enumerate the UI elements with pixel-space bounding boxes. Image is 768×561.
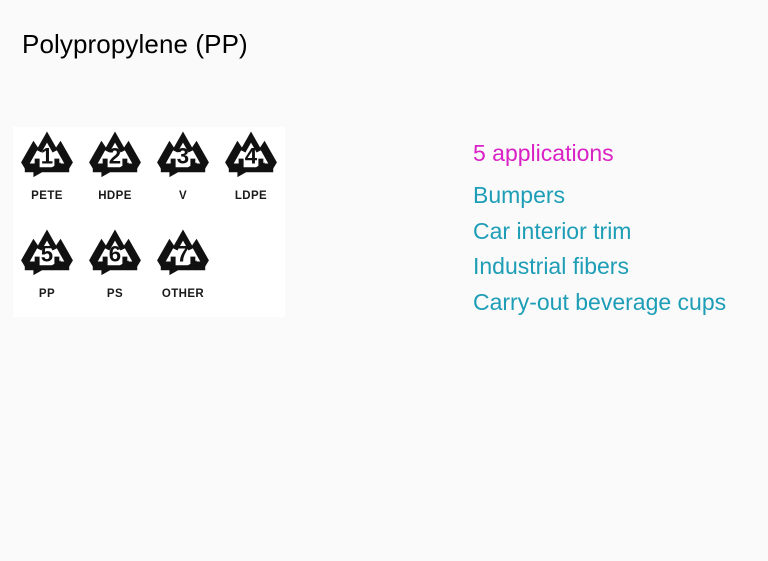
recycling-code-2: 2 HDPE bbox=[81, 129, 149, 224]
recycling-code-number: 4 bbox=[245, 144, 258, 169]
recycling-code-number: 3 bbox=[177, 144, 189, 169]
recycling-code-label: OTHER bbox=[162, 288, 204, 301]
recycling-code-number: 2 bbox=[109, 144, 121, 169]
recycling-code-label: PS bbox=[107, 288, 123, 301]
recycling-triangle-icon: 2 bbox=[84, 129, 146, 187]
recycling-triangle-icon: 1 bbox=[16, 129, 78, 187]
recycling-triangle-icon: 3 bbox=[152, 129, 214, 187]
recycling-codes-image: 1 PETE 2 bbox=[13, 127, 285, 317]
recycling-code-6: 6 PS bbox=[81, 227, 149, 317]
recycling-triangle-icon: 6 bbox=[84, 227, 146, 285]
recycling-code-number: 6 bbox=[109, 242, 121, 267]
recycling-code-number: 5 bbox=[41, 242, 53, 267]
page-title: Polypropylene (PP) bbox=[22, 29, 248, 59]
applications-list: Bumpers Car interior trim Industrial fib… bbox=[473, 178, 755, 320]
recycling-code-label: V bbox=[179, 190, 187, 203]
recycling-code-5: 5 PP bbox=[13, 227, 81, 317]
recycling-code-label: LDPE bbox=[235, 190, 267, 203]
recycling-code-7: 7 OTHER bbox=[149, 227, 217, 317]
recycling-code-label: PP bbox=[39, 288, 55, 301]
recycling-code-1: 1 PETE bbox=[13, 129, 81, 224]
list-item: Carry-out beverage cups bbox=[473, 285, 755, 321]
recycling-codes-row: 1 PETE 2 bbox=[13, 129, 285, 224]
recycling-triangle-icon: 5 bbox=[16, 227, 78, 285]
recycling-code-number: 7 bbox=[177, 242, 189, 267]
recycling-triangle-icon: 7 bbox=[152, 227, 214, 285]
list-item: Industrial fibers bbox=[473, 249, 755, 285]
recycling-codes-row: 5 PP 6 bbox=[13, 227, 285, 317]
applications-heading: 5 applications bbox=[473, 138, 755, 169]
recycling-code-3: 3 V bbox=[149, 129, 217, 224]
list-item: Car interior trim bbox=[473, 214, 755, 250]
recycling-codes-canvas: 1 PETE 2 bbox=[13, 127, 285, 317]
applications-text-block: 5 applications Bumpers Car interior trim… bbox=[473, 138, 755, 320]
recycling-code-4: 4 LDPE bbox=[217, 129, 285, 224]
recycling-code-label: HDPE bbox=[98, 190, 132, 203]
recycling-triangle-icon: 4 bbox=[220, 129, 282, 187]
recycling-code-label: PETE bbox=[31, 190, 63, 203]
list-item: Bumpers bbox=[473, 178, 755, 214]
recycling-code-number: 1 bbox=[41, 144, 53, 169]
